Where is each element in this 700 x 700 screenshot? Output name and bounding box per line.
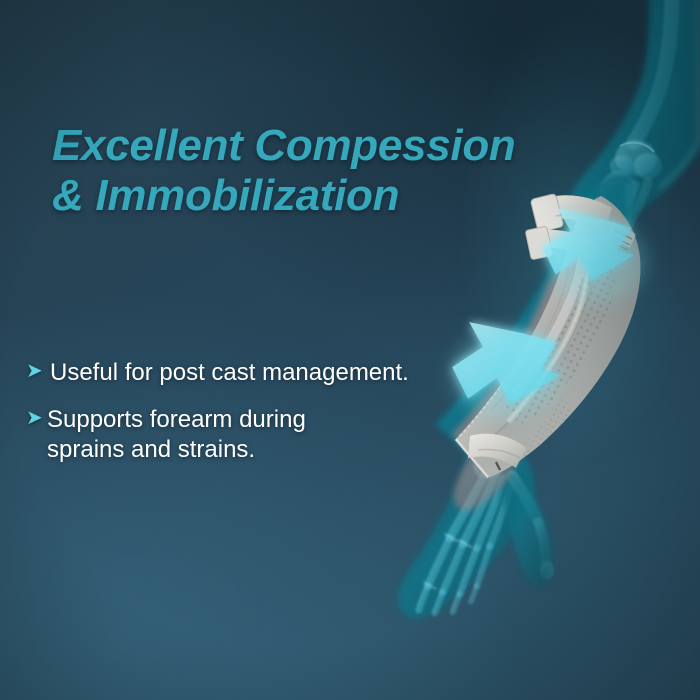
headline-line-1: Excellent Compession bbox=[52, 121, 515, 170]
product-banner: Excellent Compession& Immobilization ➤ U… bbox=[0, 0, 700, 700]
list-item: ➤ Supports forearm during sprains and st… bbox=[26, 405, 476, 466]
list-item-label: Useful for post cast management. bbox=[50, 358, 476, 389]
arrow-bullet-icon: ➤ bbox=[26, 406, 47, 431]
page-title: Excellent Compession& Immobilization bbox=[52, 121, 515, 220]
list-item-label: Supports forearm during sprains and stra… bbox=[47, 405, 476, 466]
limb-glow bbox=[400, 0, 700, 620]
feature-list: ➤ Useful for post cast management. ➤ Sup… bbox=[26, 358, 476, 482]
headline-line-2: & Immobilization bbox=[52, 171, 515, 220]
list-item: ➤ Useful for post cast management. bbox=[26, 358, 476, 389]
arrow-bullet-icon: ➤ bbox=[26, 359, 50, 384]
